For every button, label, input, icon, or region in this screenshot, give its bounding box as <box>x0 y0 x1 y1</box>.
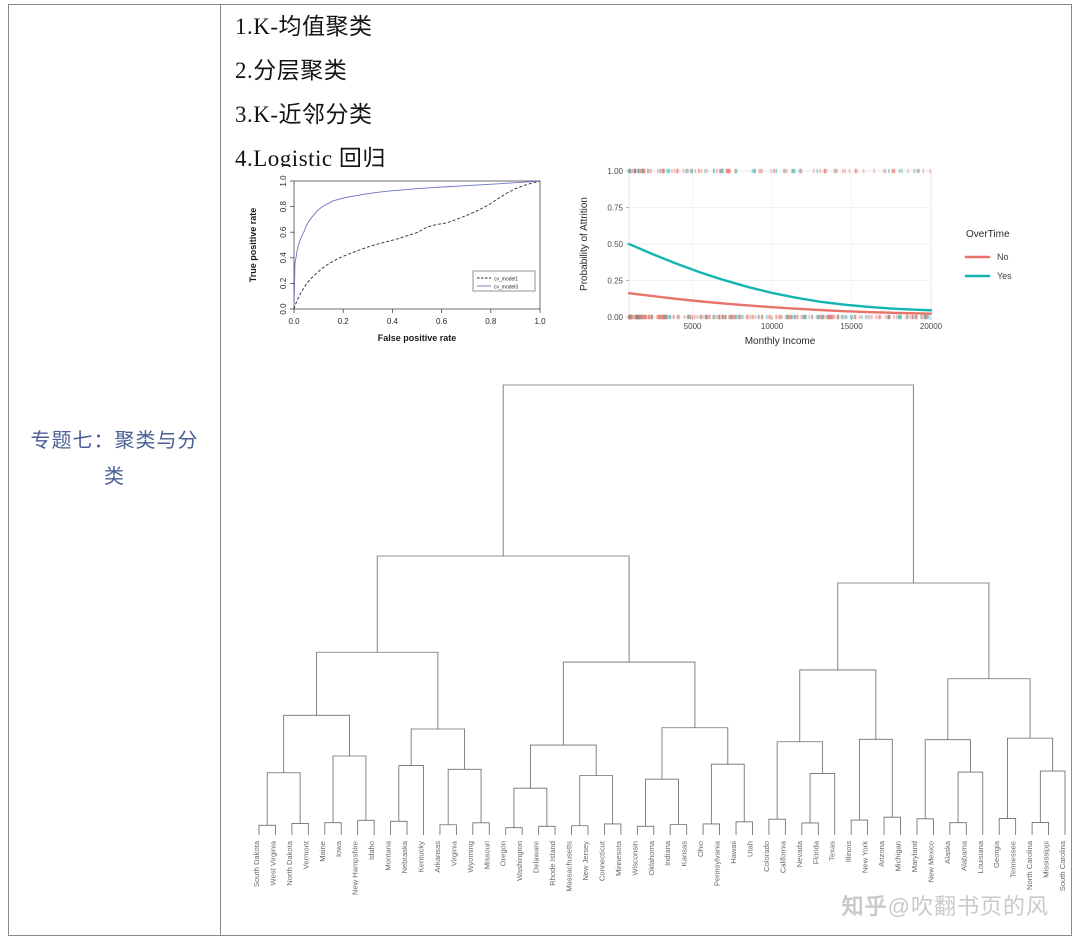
topic-list: 1.K-均值聚类 2.分层聚类 3.K-近邻分类 4.Logistic 回归 <box>235 5 655 181</box>
watermark-site: 知乎 <box>842 894 888 919</box>
svg-text:Indiana: Indiana <box>663 840 672 866</box>
svg-text:Probability of Attrition: Probability of Attrition <box>579 197 590 291</box>
svg-text:Delaware: Delaware <box>532 841 541 873</box>
svg-text:Minnesota: Minnesota <box>614 840 623 876</box>
svg-text:Arizona: Arizona <box>877 840 886 867</box>
svg-text:5000: 5000 <box>684 322 702 331</box>
svg-text:Illinois: Illinois <box>844 841 853 862</box>
svg-text:North Carolina: North Carolina <box>1025 840 1034 890</box>
svg-text:Ohio: Ohio <box>696 841 705 857</box>
list-item-label: 分层聚类 <box>253 58 347 83</box>
svg-text:Nebraska: Nebraska <box>400 840 409 873</box>
table-cell-topic: 专题七：聚类与分类 <box>9 5 221 935</box>
list-item: 3.K-近邻分类 <box>235 93 655 137</box>
svg-text:0.25: 0.25 <box>607 276 623 285</box>
list-item-number: 3. <box>235 102 253 127</box>
svg-text:0.6: 0.6 <box>279 226 288 238</box>
page-title: 专题七：聚类与分类 <box>9 423 220 495</box>
watermark-at: @ <box>888 894 911 919</box>
svg-text:0.4: 0.4 <box>279 252 288 264</box>
svg-text:Oklahoma: Oklahoma <box>647 840 656 875</box>
svg-text:Maryland: Maryland <box>910 841 919 872</box>
svg-text:15000: 15000 <box>840 322 863 331</box>
svg-text:True positive rate: True positive rate <box>248 208 258 283</box>
svg-text:Kentucky: Kentucky <box>416 841 425 872</box>
content-table: 专题七：聚类与分类 1.K-均值聚类 2.分层聚类 3.K-近邻分类 4.Log… <box>8 4 1072 936</box>
svg-text:1.0: 1.0 <box>279 175 288 187</box>
svg-text:Kansas: Kansas <box>680 841 689 867</box>
svg-text:North Dakota: North Dakota <box>285 840 294 886</box>
svg-text:South Dakota: South Dakota <box>252 840 261 887</box>
svg-text:Tennessee: Tennessee <box>1009 841 1018 878</box>
list-item-label: K-均值聚类 <box>253 14 372 39</box>
svg-text:0.0: 0.0 <box>279 303 288 315</box>
svg-text:Idaho: Idaho <box>367 841 376 860</box>
svg-text:Iowa: Iowa <box>334 840 343 857</box>
svg-text:Wisconsin: Wisconsin <box>630 841 639 876</box>
svg-text:Alaska: Alaska <box>943 840 952 864</box>
svg-text:cv_model3: cv_model3 <box>494 284 518 290</box>
svg-text:Rhode Island: Rhode Island <box>548 841 557 886</box>
table-cell-content: 1.K-均值聚类 2.分层聚类 3.K-近邻分类 4.Logistic 回归 0… <box>221 5 1071 935</box>
svg-text:0.8: 0.8 <box>279 200 288 212</box>
svg-text:New York: New York <box>861 841 870 873</box>
svg-text:No: No <box>997 252 1009 262</box>
list-item-number: 2. <box>235 58 253 83</box>
svg-text:Wyoming: Wyoming <box>466 841 475 873</box>
svg-text:Missouri: Missouri <box>482 841 491 870</box>
svg-text:Michigan: Michigan <box>894 841 903 871</box>
svg-text:0.8: 0.8 <box>485 317 497 326</box>
svg-text:False positive rate: False positive rate <box>378 333 457 343</box>
dendrogram-figure: South DakotaWest VirginiaNorth DakotaVer… <box>231 375 1071 930</box>
watermark: 知乎@吹翻书页的风 <box>842 889 1049 921</box>
svg-text:0.2: 0.2 <box>338 317 350 326</box>
svg-text:Colorado: Colorado <box>762 841 771 872</box>
document-page: 专题七：聚类与分类 1.K-均值聚类 2.分层聚类 3.K-近邻分类 4.Log… <box>0 0 1080 943</box>
svg-text:Pennsylvania: Pennsylvania <box>713 840 722 886</box>
dendrogram-svg: South DakotaWest VirginiaNorth DakotaVer… <box>231 375 1071 930</box>
svg-text:Montana: Montana <box>384 840 393 870</box>
roc-curve-svg: 0.00.20.40.60.81.00.00.20.40.60.81.0Fals… <box>240 167 551 367</box>
svg-text:Oregon: Oregon <box>499 841 508 866</box>
svg-text:cv_model1: cv_model1 <box>494 276 518 282</box>
watermark-user: 吹翻书页的风 <box>911 894 1049 919</box>
svg-text:0.0: 0.0 <box>288 317 300 326</box>
svg-text:California: California <box>778 840 787 873</box>
svg-text:New Mexico: New Mexico <box>926 841 935 882</box>
svg-text:0.50: 0.50 <box>607 240 623 249</box>
svg-text:Utah: Utah <box>745 841 754 857</box>
svg-text:Monthly Income: Monthly Income <box>745 336 816 347</box>
svg-text:0.4: 0.4 <box>387 317 399 326</box>
svg-text:Maine: Maine <box>318 841 327 862</box>
svg-text:Connecticut: Connecticut <box>597 840 606 881</box>
svg-text:0.6: 0.6 <box>436 317 448 326</box>
svg-text:New Hampshire: New Hampshire <box>351 841 360 895</box>
svg-text:Nevada: Nevada <box>795 840 804 867</box>
svg-text:Massachusetts: Massachusetts <box>565 841 574 892</box>
svg-text:South Carolina: South Carolina <box>1058 840 1067 891</box>
svg-text:Yes: Yes <box>997 271 1012 281</box>
svg-text:Texas: Texas <box>828 841 837 861</box>
list-item-label: K-近邻分类 <box>253 102 372 127</box>
svg-text:Mississippi: Mississippi <box>1042 841 1051 878</box>
list-item-number: 1. <box>235 14 253 39</box>
svg-text:1.00: 1.00 <box>607 167 623 176</box>
svg-text:Arkansas: Arkansas <box>433 841 442 873</box>
svg-text:20000: 20000 <box>920 322 943 331</box>
svg-text:Vermont: Vermont <box>301 840 310 869</box>
svg-text:Georgia: Georgia <box>992 840 1001 868</box>
svg-text:Alabama: Alabama <box>959 840 968 871</box>
roc-curve-figure: 0.00.20.40.60.81.00.00.20.40.60.81.0Fals… <box>240 167 551 367</box>
logistic-regression-svg: 50001000015000200000.000.250.500.751.00M… <box>571 157 1071 372</box>
svg-text:0.00: 0.00 <box>607 313 623 322</box>
svg-text:1.0: 1.0 <box>534 317 546 326</box>
svg-text:Washington: Washington <box>515 841 524 881</box>
svg-text:New Jersey: New Jersey <box>581 841 590 881</box>
svg-text:10000: 10000 <box>761 322 784 331</box>
svg-text:West Virginia: West Virginia <box>268 840 277 885</box>
svg-text:0.75: 0.75 <box>607 203 623 212</box>
figure-row: 0.00.20.40.60.81.00.00.20.40.60.81.0Fals… <box>221 157 1071 372</box>
svg-text:0.2: 0.2 <box>279 277 288 289</box>
svg-text:Hawaii: Hawaii <box>729 841 738 864</box>
list-item: 2.分层聚类 <box>235 49 655 93</box>
svg-text:Florida: Florida <box>811 840 820 864</box>
logistic-regression-figure: 50001000015000200000.000.250.500.751.00M… <box>571 157 1071 372</box>
svg-text:Virginia: Virginia <box>449 840 458 866</box>
svg-text:Louisiana: Louisiana <box>976 840 985 873</box>
svg-text:OverTime: OverTime <box>966 229 1010 240</box>
list-item: 1.K-均值聚类 <box>235 5 655 49</box>
